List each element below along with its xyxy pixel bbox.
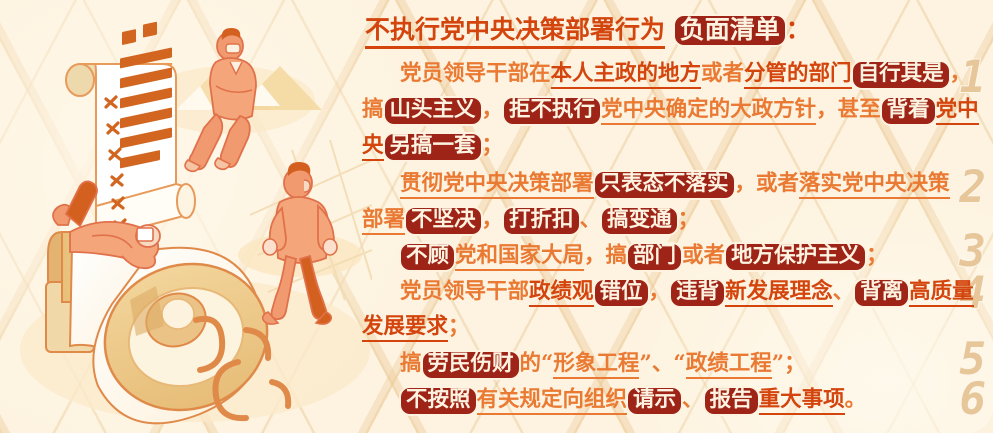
highlight-tag: 报告	[705, 388, 758, 414]
clause-4-line-1: 党员领导干部政绩观错位，违背新发展理念、背离高质量	[362, 280, 974, 306]
clause-1-line-1: 党员领导干部在本人主政的地方或者分管的部门自行其是，	[362, 62, 971, 88]
plain-text: 、	[682, 387, 704, 412]
plain-text: ，	[950, 61, 972, 86]
plain-text: ；	[784, 351, 806, 376]
title-colon: ：	[786, 15, 811, 44]
emphasis-text: 党中	[936, 97, 979, 125]
clause-2-line-1: 贯彻党中央决策部署只表态不落实，或者落实党中央决策	[362, 172, 950, 198]
plain-text: 党员领导干部在	[400, 61, 551, 86]
clause-4-line-2: 发展要求；	[362, 316, 470, 338]
highlight-tag: 背离	[855, 280, 908, 306]
plain-text: ”	[639, 351, 651, 376]
emphasis-text: 高质量	[909, 279, 974, 307]
clause-3-line-1: 不顾党和国家大局，搞部门或者地方保护主义；	[362, 244, 888, 270]
underlined-text: 形象工程	[553, 351, 639, 379]
highlight-tag: 不顾	[401, 244, 454, 270]
clause-1-line-3: 央另搞一套；	[362, 134, 503, 160]
highlight-tag: 部门	[628, 244, 681, 270]
plain-text: ，甚至	[816, 97, 881, 122]
plain-text: ，	[482, 207, 504, 232]
emphasis-text: 重大事项	[759, 387, 845, 415]
plain-text: 、	[580, 207, 602, 232]
text-column: 不执行党中央决策部署行为 负面清单： 党员领导干部在本人主政的地方或者分管的部门…	[360, 0, 993, 433]
underlined-text: 落实党中央决策	[799, 171, 950, 199]
underlined-text: 贯彻党中央决策部署	[400, 171, 594, 199]
plain-text: 或者	[682, 243, 725, 268]
megaphone-checklist-illustration	[0, 0, 372, 433]
highlight-tag: 违背	[671, 280, 724, 306]
underlined-text: 有关规定向组织	[477, 387, 628, 415]
plain-text: ；	[482, 133, 504, 158]
highlight-tag: 拒不执行	[504, 98, 600, 124]
plain-text: ，	[649, 279, 671, 304]
highlight-tag: 请示	[628, 388, 681, 414]
plain-text: ；	[448, 314, 470, 339]
emphasis-text: 发展要求	[362, 314, 448, 342]
plain-text: 。	[845, 387, 867, 412]
clause-2-line-2: 部署不坚决，打折扣、搞变通；	[362, 208, 699, 234]
plain-text: ”	[772, 351, 784, 376]
plain-text: 或者	[701, 61, 744, 86]
emphasis-text: 政绩观	[529, 279, 594, 307]
plain-text: “	[541, 351, 553, 376]
emphasis-text: 新发展理念	[725, 279, 833, 307]
clause-1-line-2: 搞山头主义，拒不执行党中央确定的大政方针，甚至背着党中	[362, 98, 979, 124]
emphasis-text: 央	[362, 133, 384, 161]
plain-text: 、	[833, 279, 855, 304]
title-badge: 负面清单	[675, 16, 785, 45]
underlined-text: 部署	[362, 207, 405, 235]
plain-text: 搞	[362, 97, 384, 122]
plain-text: ；	[678, 207, 700, 232]
highlight-tag: 另搞一套	[385, 134, 481, 160]
plain-text: 搞	[400, 351, 422, 376]
highlight-tag: 地方保护主义	[726, 244, 865, 270]
clause-6-line-1: 不按照有关规定向组织请示、报告重大事项。	[362, 388, 866, 414]
plain-text: ，或者	[735, 171, 800, 196]
highlight-tag: 只表态不落实	[595, 172, 734, 198]
plain-text: ，搞	[584, 243, 627, 268]
plain-text: ，	[482, 97, 504, 122]
plain-text: ；	[866, 243, 888, 268]
underlined-text: 政绩工程	[686, 351, 772, 379]
plain-text: 、	[652, 351, 674, 376]
clause-5-line-1: 搞劳民伤财的“形象工程”、“政绩工程”；	[362, 352, 806, 378]
highlight-tag: 山头主义	[385, 98, 481, 124]
highlight-tag: 搞变通	[602, 208, 677, 234]
highlight-tag: 劳民伤财	[423, 352, 519, 378]
page-title: 不执行党中央决策部署行为 负面清单：	[365, 10, 811, 46]
highlight-tag: 错位	[595, 280, 648, 306]
underlined-text: 党和国家大局	[455, 243, 584, 271]
highlight-tag: 自行其是	[853, 62, 949, 88]
highlight-tag: 不按照	[401, 388, 476, 414]
highlight-tag: 打折扣	[504, 208, 579, 234]
title-underlined-text: 不执行党中央决策部署行为	[365, 15, 665, 49]
highlight-tag: 背着	[882, 98, 935, 124]
emphasis-text: 分管的部门	[744, 61, 852, 89]
poster-root: 1 2 3 4 5 6 不执行党中央决策部署行为 负面清单： 党员领导干部在本人…	[0, 0, 993, 433]
underlined-text: 党中央确定的大政方针	[601, 97, 816, 125]
plain-text: “	[673, 351, 685, 376]
highlight-tag: 不坚决	[406, 208, 481, 234]
plain-text: 党员领导干部	[400, 279, 529, 304]
plain-text: 的	[520, 351, 542, 376]
emphasis-text: 本人主政的地方	[551, 61, 702, 89]
